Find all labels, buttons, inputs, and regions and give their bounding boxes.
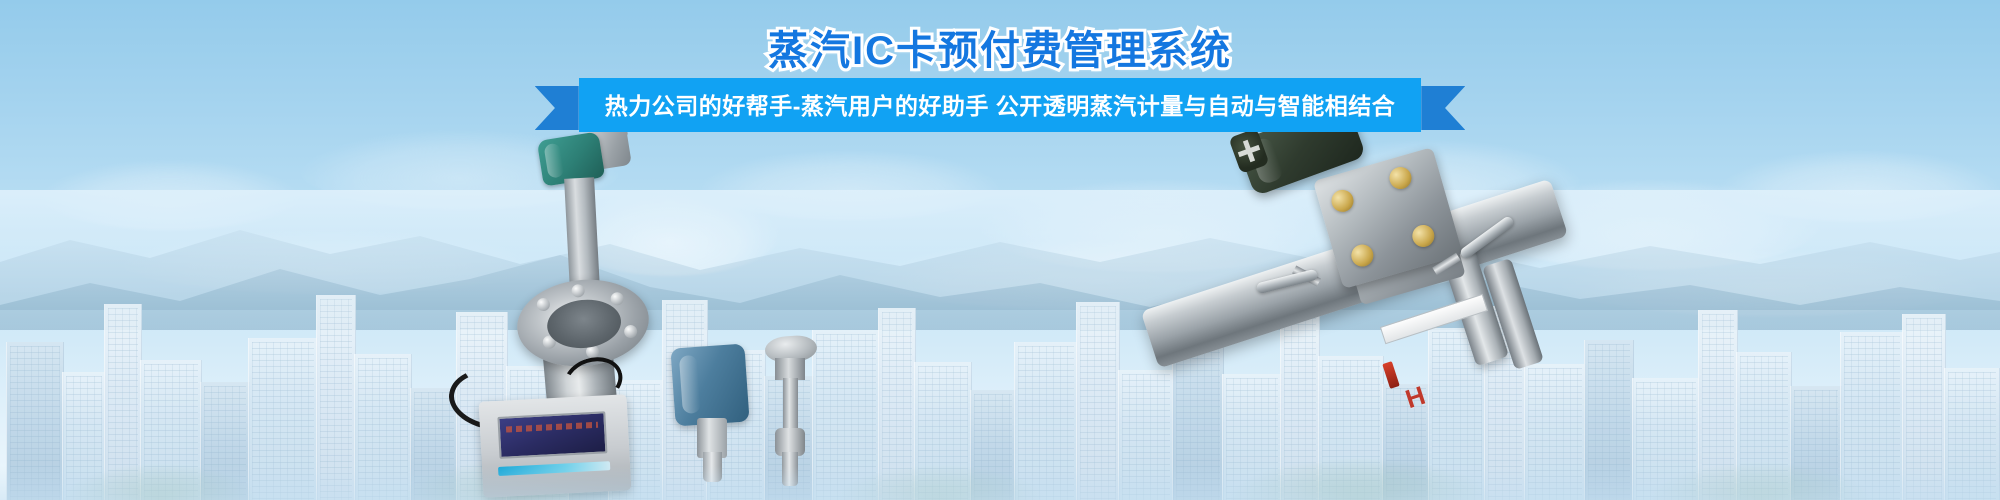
flange-bolt: [624, 324, 638, 338]
flange-bolt: [610, 292, 624, 306]
pipe-flange: [513, 273, 653, 372]
hero-banner: H 蒸汽IC卡预付费管理系统 热力公司的好帮手-蒸汽用户的好助手 公开透明蒸汽计…: [0, 0, 2000, 500]
banner-title-area: 蒸汽IC卡预付费管理系统: [0, 18, 2000, 76]
sensor-neck: [564, 177, 600, 290]
brass-fitting: [1329, 187, 1356, 214]
pressure-transmitter-housing: [670, 344, 749, 427]
dp-transmitter-assembly: H: [1230, 110, 1650, 500]
banner-subtitle-area: 热力公司的好帮手-蒸汽用户的好助手 公开透明蒸汽计量与自动与智能相结合: [0, 78, 2000, 132]
subtitle-ribbon: 热力公司的好帮手-蒸汽用户的好助手 公开透明蒸汽计量与自动与智能相结合: [535, 78, 1466, 132]
probe-tip: [703, 452, 722, 482]
ic-card-controller: [479, 394, 632, 498]
brass-fitting: [1349, 242, 1376, 269]
probe-sensor-tip: [782, 452, 798, 486]
vortex-flow-meter: [455, 130, 685, 500]
brass-fitting: [1387, 164, 1414, 191]
brass-fitting: [1410, 222, 1437, 249]
red-marker: [1382, 361, 1400, 389]
pipe-marking: H: [1402, 380, 1429, 415]
subtitle-text: 热力公司的好帮手-蒸汽用户的好助手 公开透明蒸汽计量与自动与智能相结合: [605, 87, 1396, 121]
pressure-and-temperature-sensors: [663, 320, 843, 500]
probe-stem: [783, 378, 798, 432]
hex-nut: [775, 358, 805, 380]
flange-bolt: [536, 297, 550, 311]
brand-stripe: [498, 461, 610, 476]
flange-bolt: [542, 335, 556, 349]
ribbon-tail-right: [1421, 86, 1465, 130]
page-title: 蒸汽IC卡预付费管理系统: [768, 18, 1232, 76]
ribbon-tail-left: [535, 86, 579, 130]
flange-bolt: [571, 284, 585, 298]
ribbon-body: 热力公司的好帮手-蒸汽用户的好助手 公开透明蒸汽计量与自动与智能相结合: [579, 78, 1422, 132]
lcd-display: [497, 411, 607, 459]
